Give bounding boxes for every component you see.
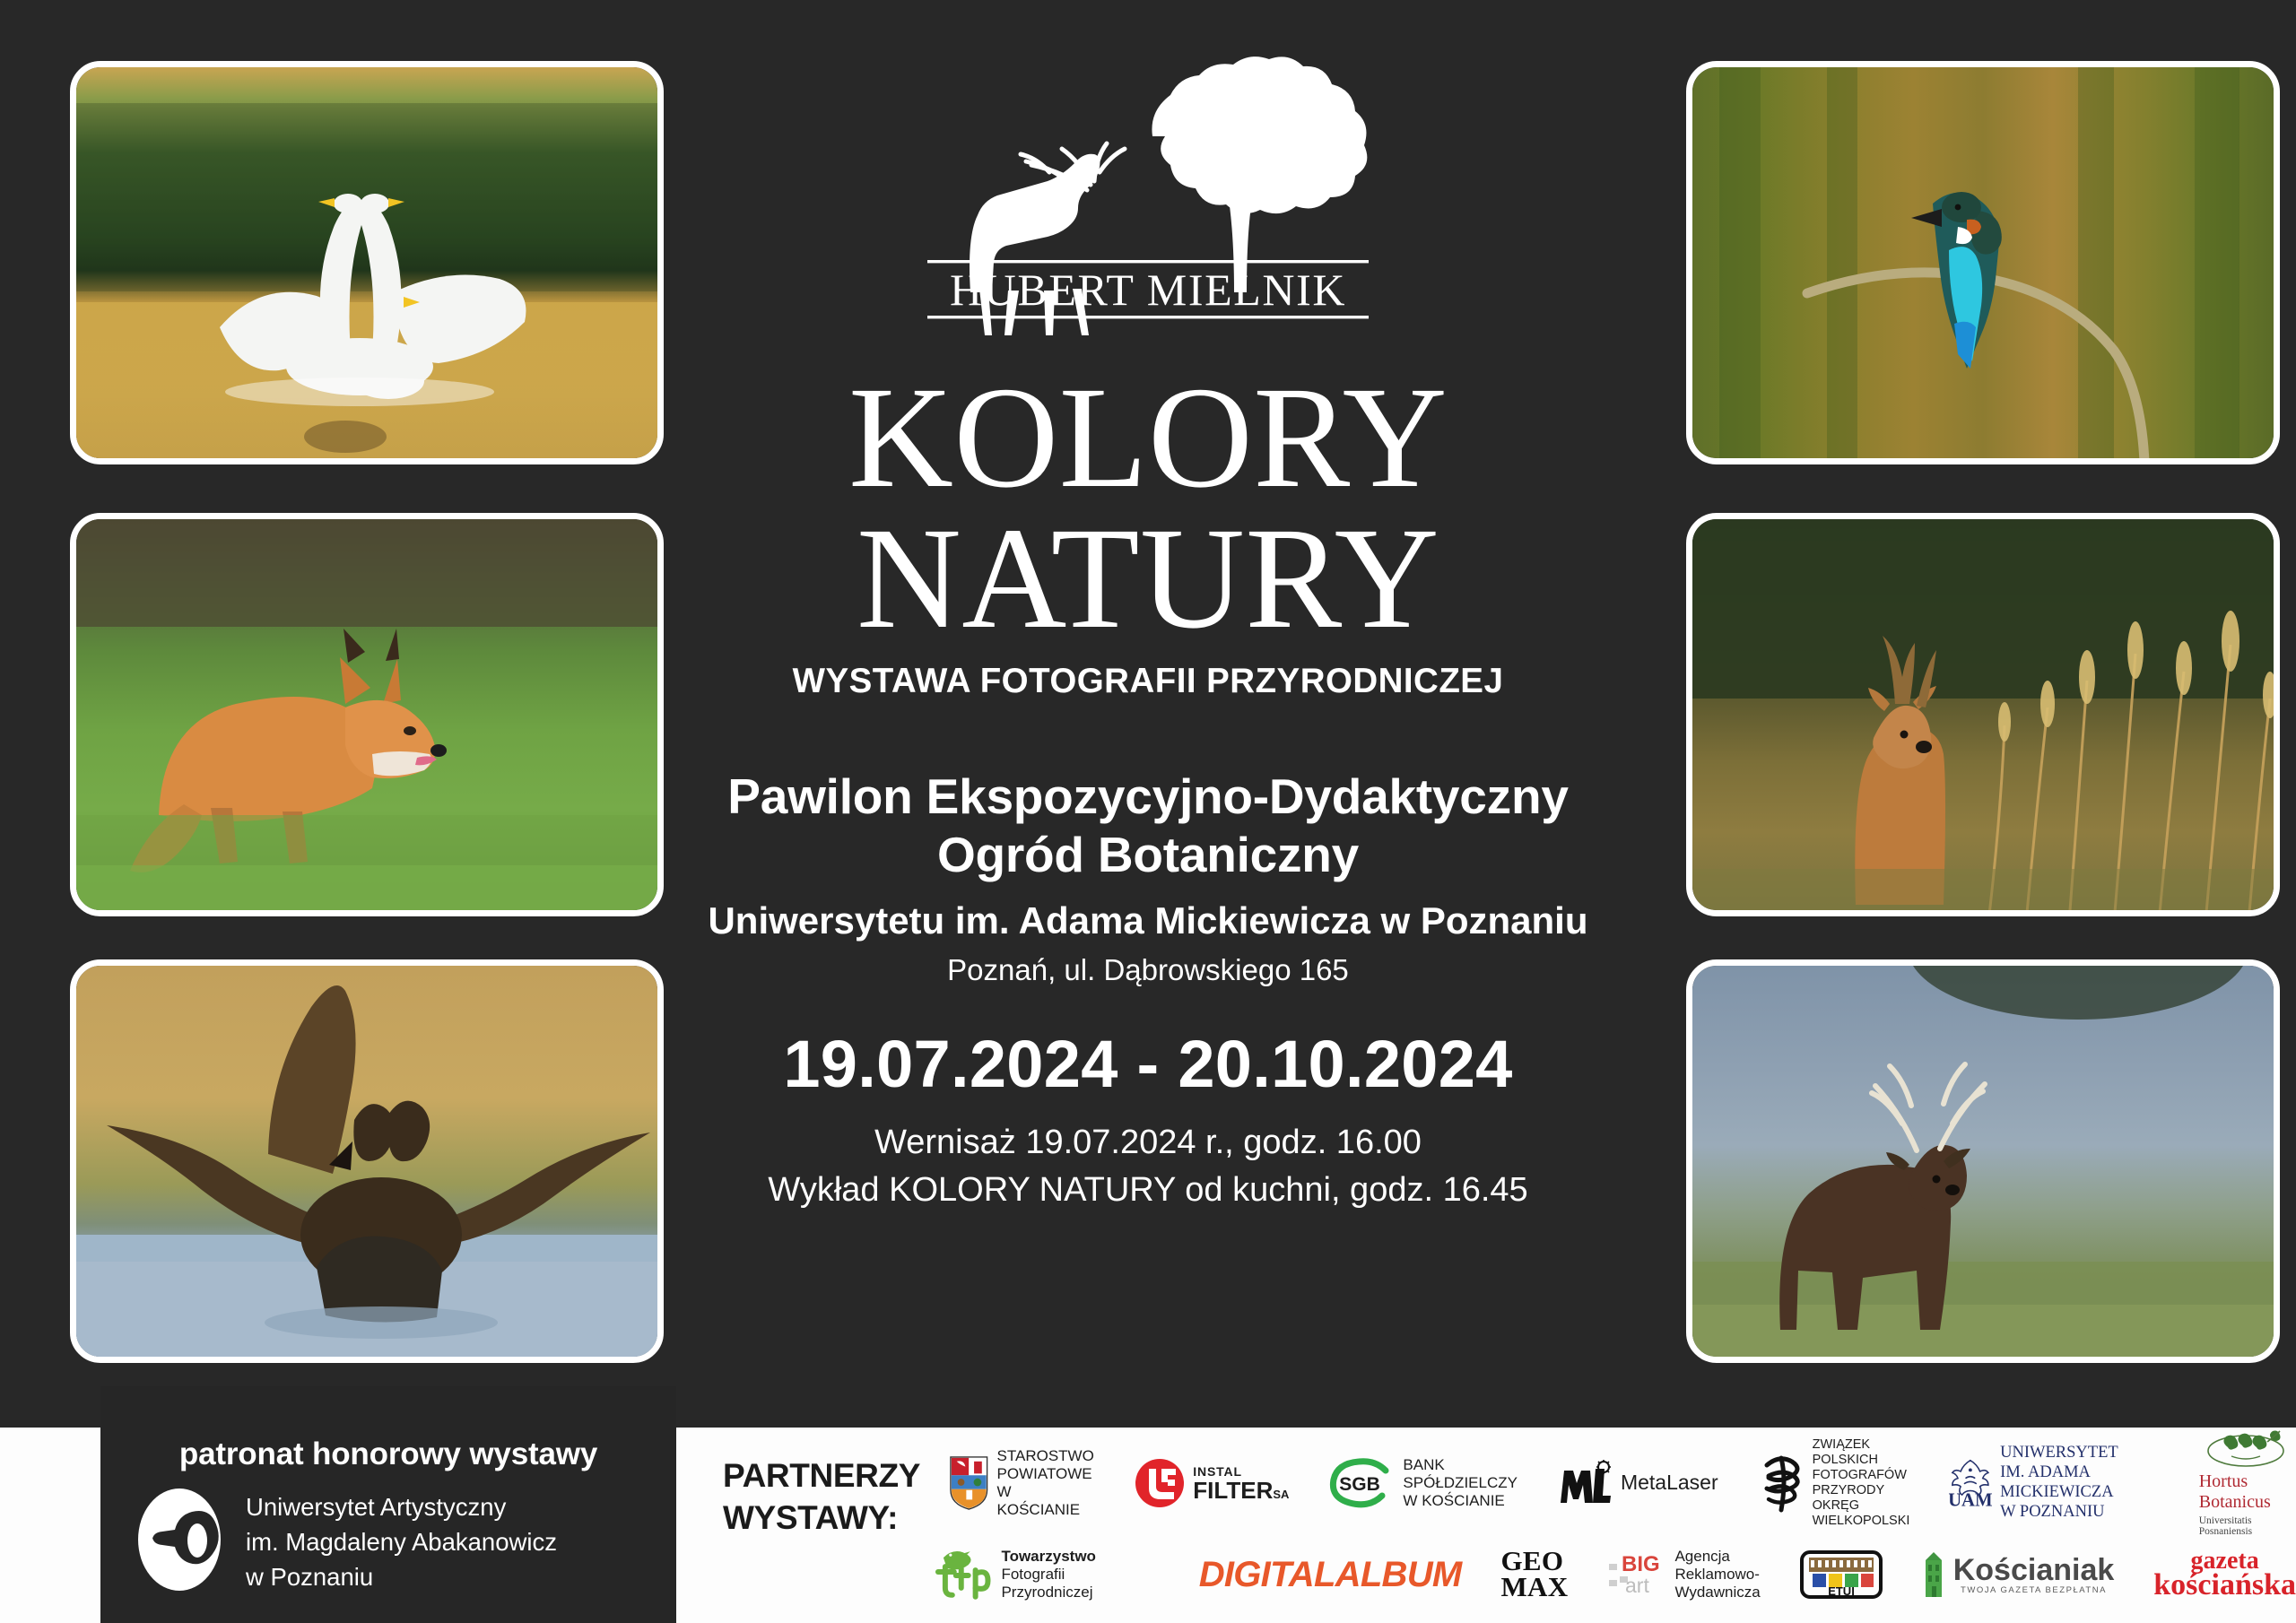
partner-digitalalbum[interactable]: DIGITALALBUM (1199, 1555, 1462, 1595)
sgb-line-3: W KOŚCIANIE (1403, 1492, 1518, 1510)
koscianiak-line-1: Kościaniak (1953, 1555, 2115, 1585)
geomax-wordmark: GEO MAX (1500, 1549, 1568, 1600)
partner-starostwo-powiatowe[interactable]: STAROSTWO POWIATOWE W KOŚCIANIE (949, 1447, 1095, 1519)
partner-big-art[interactable]: BIG art Agencja Reklamowo- Wydawnicza (1607, 1548, 1760, 1601)
brand-name-text: HUBERT MIELNIK (950, 265, 1346, 315)
partner-gazeta-koscianska[interactable]: gazeta kościańska (2153, 1550, 2296, 1600)
venue-block: Pawilon Ekspozycyjno-Dydaktyczny Ogród B… (708, 768, 1587, 989)
photo-kingfisher (1686, 61, 2280, 464)
zpfp-line-5: OKRĘG (1813, 1498, 1910, 1514)
partners-label: PARTNERZY WYSTAWY: (723, 1454, 920, 1540)
uam-line-1: UNIWERSYTET (2000, 1444, 2160, 1463)
fox-illustration (76, 519, 664, 916)
tfp-line-2: Fotografii Przyrodniczej (1001, 1566, 1159, 1601)
patronage-institution: Uniwersytet Artystyczny im. Magdaleny Ab… (246, 1489, 557, 1594)
swans-illustration (76, 67, 664, 464)
ivy-leaves-oval-icon (2205, 1429, 2291, 1469)
patronage-block: patronat honorowy wystawy Uniwersytet Ar… (100, 1386, 676, 1623)
uam-mark-text: UAM (1949, 1489, 1992, 1510)
starostwo-line-3: W KOŚCIANIE (997, 1483, 1096, 1519)
uam-eagle-crest-icon: UAM (1949, 1448, 1992, 1518)
partner-tfp[interactable]: Towarzystwo Fotografii Przyrodniczej (931, 1543, 1160, 1606)
partner-zpfp-name: ZWIĄZEK POLSKICH FOTOGRAFÓW PRZYRODY OKR… (1813, 1437, 1910, 1530)
sgb-mark-text: SGB (1340, 1474, 1381, 1495)
partner-geomax[interactable]: GEO MAX (1500, 1549, 1568, 1600)
bigart-line-2: Reklamowo- (1674, 1566, 1760, 1584)
venue-line-3: Uniwersytetu im. Adama Mickiewicza w Poz… (708, 897, 1587, 946)
stag-illustration (1692, 966, 2280, 1363)
partner-instal-filter-name: INSTAL FILTERSA (1193, 1464, 1289, 1503)
dates-block: 19.07.2024 - 20.10.2024 Wernisaż 19.07.2… (768, 1026, 1527, 1210)
green-tower-icon (1922, 1550, 1945, 1599)
partner-foto-etui[interactable]: ETUI (1800, 1549, 1883, 1601)
page-title: KOLORY NATURY (848, 368, 1448, 649)
partner-koscianiak[interactable]: Kościaniak TWOJA GAZETA BEZPŁATNA (1922, 1550, 2115, 1599)
patronage-institution-line-1: Uniwersytet Artystyczny (246, 1489, 557, 1524)
partner-logo-row-2: Towarzystwo Fotografii Przyrodniczej DIG… (931, 1533, 2296, 1616)
zpfp-line-1: ZWIĄZEK (1813, 1437, 1910, 1453)
zpfp-line-3: FOTOGRAFÓW (1813, 1468, 1910, 1483)
sgb-line-2: SPÓŁDZIELCZY (1403, 1474, 1518, 1492)
partner-metalaser-name: MetaLaser (1621, 1471, 1718, 1495)
uap-oval-mark-icon (133, 1487, 226, 1597)
partner-logo-row-1: STAROSTWO POWIATOWE W KOŚCIANIE INSTAL (949, 1438, 2296, 1528)
center-column: HUBERT MIELNIK KOLORY NATURY WYSTAWA FOT… (682, 0, 1614, 1428)
photo-fox (70, 513, 664, 916)
photo-roedeer (1686, 513, 2280, 916)
title-line-2: NATURY (848, 508, 1448, 649)
zpfp-line-2: POLSKICH (1813, 1453, 1910, 1468)
tfp-bird-icon (931, 1543, 993, 1606)
partner-hortus-botanicus[interactable]: Hortus Botanicus Universitatis Posnanien… (2199, 1429, 2296, 1537)
sgb-ring-icon: SGB (1328, 1458, 1395, 1508)
bigart-line-1: Agencja (1674, 1548, 1760, 1566)
photo-stag (1686, 959, 2280, 1363)
partner-big-art-name: Agencja Reklamowo- Wydawnicza (1674, 1548, 1760, 1601)
partners-section: PARTNERZY WYSTAWY: (709, 1428, 2296, 1623)
partner-koscianiak-name: Kościaniak TWOJA GAZETA BEZPŁATNA (1953, 1555, 2115, 1595)
uam-line-2: IM. ADAMA MICKIEWICZA (2000, 1463, 2160, 1503)
partner-uam[interactable]: UAM UNIWERSYTET IM. ADAMA MICKIEWICZA W … (1949, 1444, 2159, 1522)
partner-sgb-bank[interactable]: SGB BANK SPÓŁDZIELCZY W KOŚCIANIE (1328, 1456, 1518, 1510)
brand-logo: HUBERT MIELNIK (915, 47, 1381, 343)
instal-line-2: FILTER (1193, 1477, 1273, 1504)
bigart-big-text: BIG (1622, 1552, 1660, 1576)
partners-label-line-1: PARTNERZY (723, 1454, 920, 1497)
tfp-line-1: Towarzystwo (1001, 1548, 1159, 1566)
venue-line-2: Ogród Botaniczny (708, 826, 1587, 884)
eagles-illustration (76, 966, 664, 1363)
page-subtitle: WYSTAWA FOTOGRAFII PRZYRODNICZEJ (793, 662, 1504, 701)
partner-starostwo-name: STAROSTWO POWIATOWE W KOŚCIANIE (997, 1447, 1096, 1519)
title-line-1: KOLORY (848, 368, 1448, 508)
deer-and-tree-logo-icon: HUBERT MIELNIK (915, 47, 1381, 343)
gazeta-line-2: kościańska (2153, 1572, 2296, 1599)
partner-sgb-name: BANK SPÓŁDZIELCZY W KOŚCIANIE (1403, 1456, 1518, 1510)
gazeta-koscianska-wordmark: gazeta kościańska (2153, 1550, 2296, 1600)
sgb-line-1: BANK (1403, 1456, 1518, 1474)
patronage-institution-line-2: im. Magdaleny Abakanowicz (246, 1524, 557, 1559)
patronage-title: patronat honorowy wystawy (100, 1386, 676, 1472)
roedeer-illustration (1692, 519, 2280, 916)
big-art-blocks-icon: BIG art (1607, 1549, 1666, 1600)
ml-monogram-icon (1557, 1460, 1613, 1506)
instal-filter-monogram-icon (1135, 1458, 1185, 1508)
starostwo-line-1: STAROSTWO (997, 1447, 1096, 1465)
bigart-line-3: Wydawnicza (1674, 1584, 1760, 1601)
zpfp-calligraphy-icon (1758, 1453, 1805, 1514)
zpfp-line-6: WIELKOPOLSKI (1813, 1514, 1910, 1529)
venue-line-1: Pawilon Ekspozycyjno-Dydaktyczny (708, 768, 1587, 826)
event-vernissage: Wernisaż 19.07.2024 r., godz. 16.00 (768, 1124, 1527, 1162)
patronage-institution-line-3: w Poznaniu (246, 1559, 557, 1594)
film-strip-frame-icon: ETUI (1800, 1549, 1883, 1601)
footer-bar: patronat honorowy wystawy Uniwersytet Ar… (0, 1428, 2296, 1623)
koscianiak-line-2: TWOJA GAZETA BEZPŁATNA (1953, 1585, 2115, 1595)
venue-address: Poznań, ul. Dąbrowskiego 165 (708, 951, 1587, 990)
kingfisher-illustration (1692, 67, 2280, 464)
starostwo-line-2: POWIATOWE (997, 1465, 1096, 1483)
hortus-line-1: Hortus Botanicus (2199, 1471, 2296, 1513)
digitalalbum-wordmark: DIGITALALBUM (1199, 1555, 1462, 1595)
photo-swans (70, 61, 664, 464)
partner-tfp-name: Towarzystwo Fotografii Przyrodniczej (1001, 1548, 1159, 1601)
date-range: 19.07.2024 - 20.10.2024 (768, 1026, 1527, 1102)
instal-line-3: SA (1273, 1488, 1289, 1501)
zpfp-line-4: PRZYRODY (1813, 1483, 1910, 1498)
partners-label-line-2: WYSTAWY: (723, 1497, 920, 1539)
geomax-line-2: MAX (1500, 1575, 1568, 1601)
fotoetui-etui-text: ETUI (1828, 1584, 1855, 1598)
bigart-art-text: art (1625, 1574, 1649, 1597)
partner-uam-name: UNIWERSYTET IM. ADAMA MICKIEWICZA W POZN… (2000, 1444, 2160, 1522)
event-lecture: Wykład KOLORY NATURY od kuchni, godz. 16… (768, 1171, 1527, 1210)
partner-metalaser[interactable]: MetaLaser (1557, 1460, 1718, 1506)
poster-root: HUBERT MIELNIK KOLORY NATURY WYSTAWA FOT… (0, 0, 2296, 1623)
photo-eagles (70, 959, 664, 1363)
coat-of-arms-koscian-icon (949, 1454, 989, 1512)
partner-instal-filter[interactable]: INSTAL FILTERSA (1135, 1458, 1289, 1508)
uam-line-3: W POZNANIU (2000, 1503, 2160, 1523)
instal-line-2-wrap: FILTERSA (1193, 1479, 1289, 1502)
partner-zwiazek-fotografow[interactable]: ZWIĄZEK POLSKICH FOTOGRAFÓW PRZYRODY OKR… (1758, 1437, 1910, 1530)
